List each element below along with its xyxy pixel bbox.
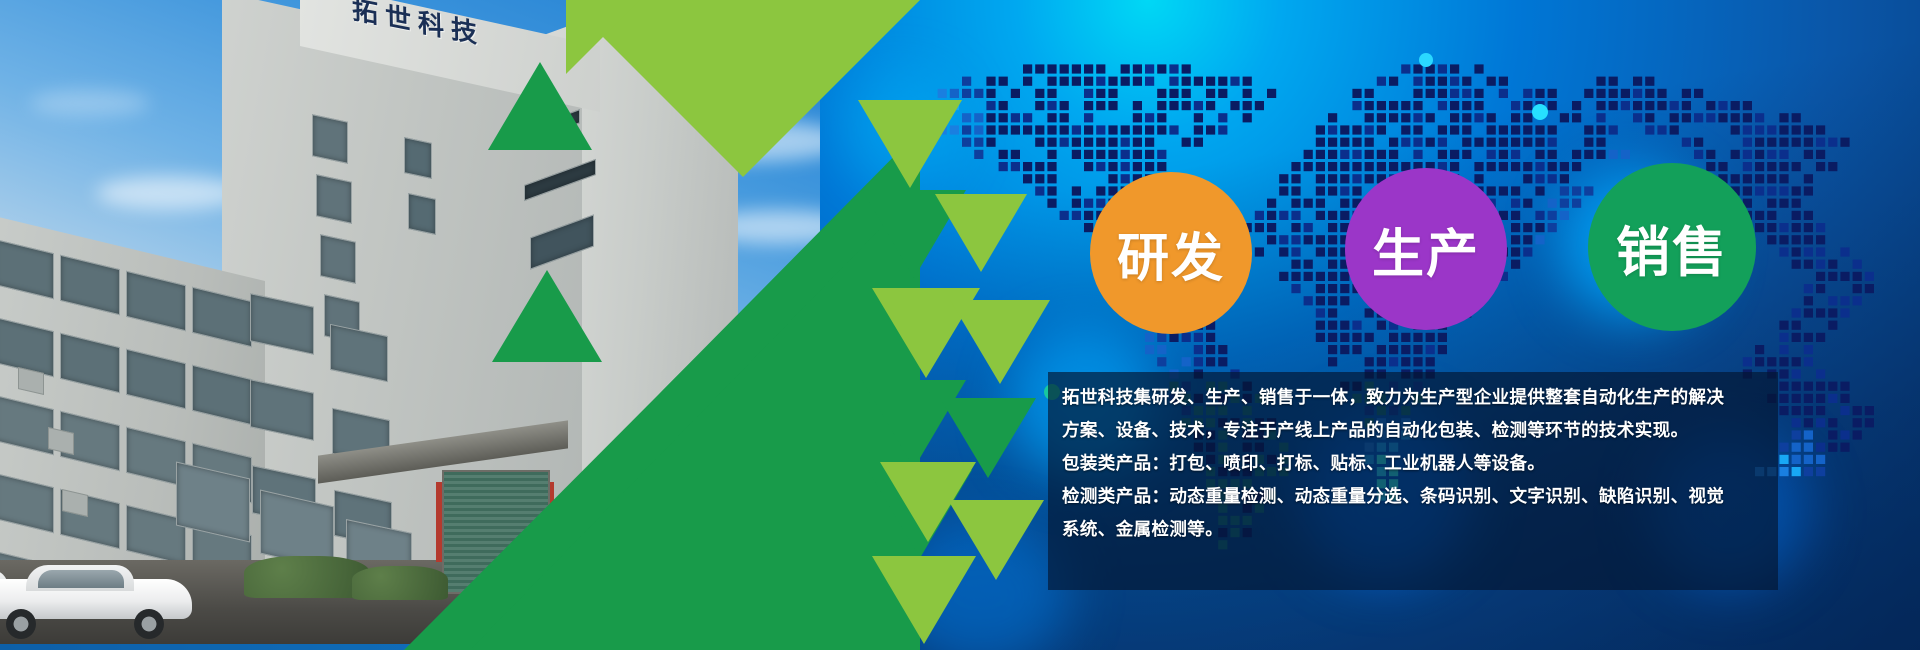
description-line: 包装类产品：打包、喷印、打标、贴标、工业机器人等设备。 [1062,448,1772,481]
chevron-triangle-up [488,62,592,150]
description-line: 系统、金属检测等。 [1062,514,1772,547]
badge-label: 销售 [1616,208,1728,287]
description-line: 检测类产品：动态重量检测、动态重量分选、条码识别、文字识别、缺陷识别、视觉 [1062,481,1772,514]
chevron-triangle [858,100,962,188]
chevron-triangle-up [492,270,602,362]
chevron-triangle [950,300,1050,384]
chevron-triangle [935,194,1027,272]
badge-circle-production[interactable]: 生产 [1345,168,1507,330]
description-text: 拓世科技集研发、生产、销售于一体，致力为生产型企业提供整套自动化生产的解决方案、… [1062,382,1772,547]
badge-label: 生产 [1372,212,1480,287]
badge-circle-sales[interactable]: 销售 [1588,163,1756,331]
badge-circle-rnd[interactable]: 研发 [1090,172,1252,334]
company-banner: 拓世科技 研发 生产 [0,0,1920,650]
description-line: 拓世科技集研发、生产、销售于一体，致力为生产型企业提供整套自动化生产的解决 [1062,382,1772,415]
big-light-green-triangle [566,0,920,177]
description-line: 方案、设备、技术，专注于产线上产品的自动化包装、检测等环节的技术实现。 [1062,415,1772,448]
badge-label: 研发 [1117,216,1225,291]
